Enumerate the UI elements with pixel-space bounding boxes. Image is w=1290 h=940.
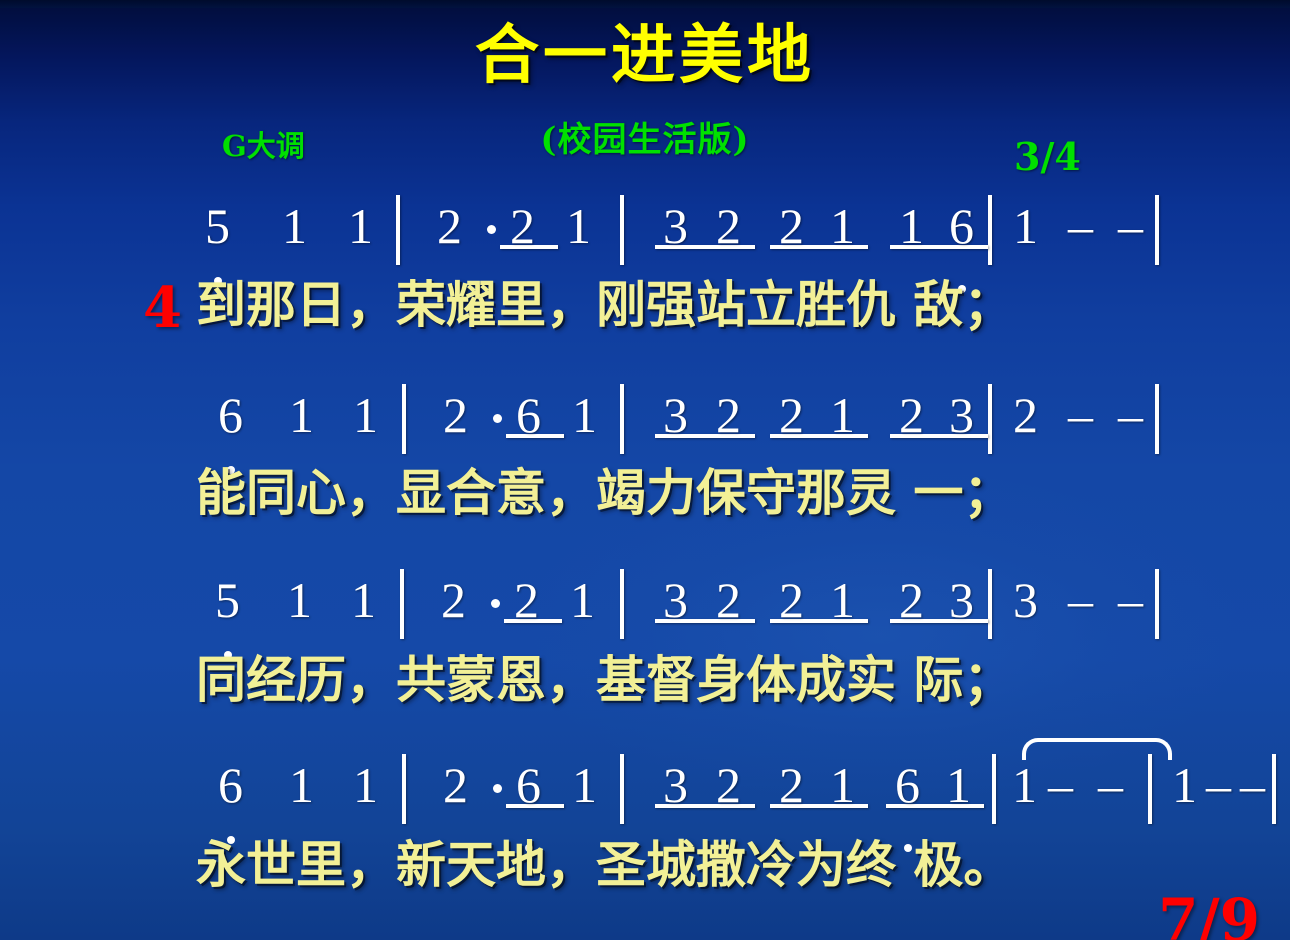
note-glyph: 2	[716, 183, 741, 269]
note-number: 2	[514, 557, 539, 643]
lyric-line: 到那日，荣耀里，刚强站立胜仇 敌；	[196, 272, 1013, 338]
note-glyph: 3	[663, 557, 688, 643]
notation-system: 5112213221161––	[0, 183, 1290, 269]
note-number: 2	[779, 372, 804, 458]
notation-system: 5112213221233––	[0, 557, 1290, 643]
note-glyph: 1	[289, 742, 314, 828]
note-number: 1	[1013, 183, 1038, 269]
note-glyph: 3	[949, 557, 974, 643]
note-number: 1	[289, 372, 314, 458]
note-number: 2	[716, 557, 741, 643]
note-number: 2	[1013, 372, 1038, 458]
note-number: 1	[830, 742, 855, 828]
note-glyph: 2	[716, 372, 741, 458]
tie-arc	[1022, 738, 1172, 760]
note-glyph: 3	[663, 742, 688, 828]
note-number: 2	[716, 742, 741, 828]
note-number: 3	[1013, 557, 1038, 643]
note-glyph: 1	[572, 372, 597, 458]
note-number: 3	[663, 557, 688, 643]
note-glyph: 1	[830, 183, 855, 269]
key-signature: G大调	[222, 123, 305, 165]
note-glyph: 1	[282, 183, 307, 269]
note-glyph: 2	[779, 372, 804, 458]
barline	[620, 569, 624, 639]
song-subtitle: (校园生活版)	[0, 112, 1290, 161]
note-glyph-low-octave: 6	[218, 742, 243, 828]
note-number: 6	[949, 183, 974, 269]
barline	[1155, 569, 1159, 639]
note-glyph: 1	[353, 742, 378, 828]
note-glyph: 1	[830, 372, 855, 458]
notation-row: 6112613221232––	[0, 372, 1290, 458]
duration-dash: –	[1068, 183, 1093, 269]
notation-row: 5112213221233––	[0, 557, 1290, 643]
note-glyph: 1	[570, 557, 595, 643]
note-number: 3	[949, 372, 974, 458]
note-glyph: 1	[946, 742, 971, 828]
note-glyph: 2	[514, 557, 539, 643]
note-glyph: 2	[443, 372, 468, 458]
barline	[620, 195, 624, 265]
note-number: 1	[830, 557, 855, 643]
note-number: 1	[830, 372, 855, 458]
note-number: 5	[205, 183, 230, 269]
note-glyph: 2	[1013, 372, 1038, 458]
barline	[400, 569, 404, 639]
barline	[1155, 384, 1159, 454]
barline	[992, 754, 996, 824]
lyric-line: 永世里，新天地，圣城撒冷为终 极。	[196, 832, 1013, 898]
note-glyph-low-octave: 6	[895, 742, 920, 828]
note-glyph-low-octave: 5	[205, 183, 230, 269]
lyric-line: 同经历，共蒙恩，基督身体成实 际；	[196, 647, 1013, 713]
note-glyph-low-octave: 6	[516, 742, 541, 828]
note-number: 1	[1172, 742, 1197, 828]
note-glyph: 1	[899, 183, 924, 269]
note-glyph: 1	[348, 183, 373, 269]
verse-number: 4	[143, 275, 182, 341]
note-glyph-low-octave: 6	[949, 183, 974, 269]
note-number: 1	[353, 372, 378, 458]
note-glyph: 2	[437, 183, 462, 269]
barline	[396, 195, 400, 265]
barline	[988, 384, 992, 454]
note-number: 6	[895, 742, 920, 828]
note-number: 1	[348, 183, 373, 269]
note-glyph: 1	[1013, 183, 1038, 269]
note-glyph-low-octave: 6	[516, 372, 541, 458]
lyric-line: 能同心，显合意，竭力保守那灵 一；	[196, 460, 1013, 526]
note-glyph-low-octave: 5	[215, 557, 240, 643]
note-number: 2	[443, 372, 468, 458]
note-number: 1	[287, 557, 312, 643]
note-glyph: 2	[441, 557, 466, 643]
note-glyph: 1	[572, 742, 597, 828]
duration-dash: –	[1068, 557, 1093, 643]
notation-row: 61126132216111––––	[0, 742, 1290, 828]
notation-system: 6112613221232––	[0, 372, 1290, 458]
note-glyph: 2	[779, 742, 804, 828]
note-number: 2	[437, 183, 462, 269]
barline	[620, 384, 624, 454]
note-glyph: 1	[830, 557, 855, 643]
note-number: 1	[572, 742, 597, 828]
note-glyph: 3	[663, 183, 688, 269]
note-glyph: 2	[443, 742, 468, 828]
note-glyph: 3	[663, 372, 688, 458]
note-glyph: 2	[779, 183, 804, 269]
note-number: 6	[516, 742, 541, 828]
note-glyph: 2	[899, 557, 924, 643]
barline	[988, 195, 992, 265]
augmentation-dot	[493, 784, 502, 793]
augmentation-dot	[491, 599, 500, 608]
augmentation-dot	[487, 225, 496, 234]
note-glyph: 2	[716, 742, 741, 828]
note-number: 2	[899, 557, 924, 643]
note-glyph: 2	[779, 557, 804, 643]
note-number: 2	[899, 372, 924, 458]
note-number: 6	[218, 372, 243, 458]
note-glyph: 1	[351, 557, 376, 643]
note-number: 1	[570, 557, 595, 643]
slide-canvas: 合一进美地 (校园生活版) G大调 3/4 5112213221161––611…	[0, 0, 1290, 940]
barline	[1155, 195, 1159, 265]
note-number: 1	[946, 742, 971, 828]
note-glyph: 1	[830, 742, 855, 828]
note-number: 1	[830, 183, 855, 269]
note-glyph: 3	[949, 372, 974, 458]
duration-dash: –	[1118, 372, 1143, 458]
note-number: 2	[443, 742, 468, 828]
note-number: 1	[899, 183, 924, 269]
note-glyph-low-octave: 6	[218, 372, 243, 458]
duration-dash: –	[1068, 372, 1093, 458]
note-glyph: 2	[899, 372, 924, 458]
note-number: 1	[351, 557, 376, 643]
note-number: 1	[289, 742, 314, 828]
augmentation-dot	[493, 414, 502, 423]
note-number: 2	[716, 183, 741, 269]
note-number: 6	[218, 742, 243, 828]
duration-dash: –	[1118, 183, 1143, 269]
page-number: 7/9	[1158, 886, 1260, 940]
duration-dash: –	[1240, 742, 1265, 828]
barline	[402, 384, 406, 454]
note-number: 2	[779, 742, 804, 828]
note-glyph: 1	[353, 372, 378, 458]
note-glyph: 2	[510, 183, 535, 269]
notation-system: 61126132216111––––	[0, 742, 1290, 828]
note-glyph: 1	[1172, 742, 1197, 828]
note-number: 1	[353, 742, 378, 828]
note-glyph: 2	[716, 557, 741, 643]
note-number: 3	[949, 557, 974, 643]
note-glyph: 1	[289, 372, 314, 458]
song-title: 合一进美地	[0, 24, 1290, 88]
duration-dash: –	[1118, 557, 1143, 643]
notation-row: 5112213221161––	[0, 183, 1290, 269]
note-number: 5	[215, 557, 240, 643]
note-number: 2	[441, 557, 466, 643]
note-number: 3	[663, 183, 688, 269]
barline	[1148, 754, 1152, 824]
note-number: 2	[779, 183, 804, 269]
note-number: 3	[663, 372, 688, 458]
note-number: 6	[516, 372, 541, 458]
note-glyph: 1	[566, 183, 591, 269]
barline	[402, 754, 406, 824]
note-number: 2	[716, 372, 741, 458]
barline	[620, 754, 624, 824]
note-glyph: 1	[287, 557, 312, 643]
time-signature: 3/4	[1014, 134, 1081, 179]
note-number: 2	[779, 557, 804, 643]
note-number: 1	[566, 183, 591, 269]
note-number: 1	[282, 183, 307, 269]
note-number: 2	[510, 183, 535, 269]
duration-dash: –	[1206, 742, 1231, 828]
barline	[988, 569, 992, 639]
note-number: 1	[572, 372, 597, 458]
note-number: 3	[663, 742, 688, 828]
barline	[1272, 754, 1276, 824]
note-glyph: 3	[1013, 557, 1038, 643]
